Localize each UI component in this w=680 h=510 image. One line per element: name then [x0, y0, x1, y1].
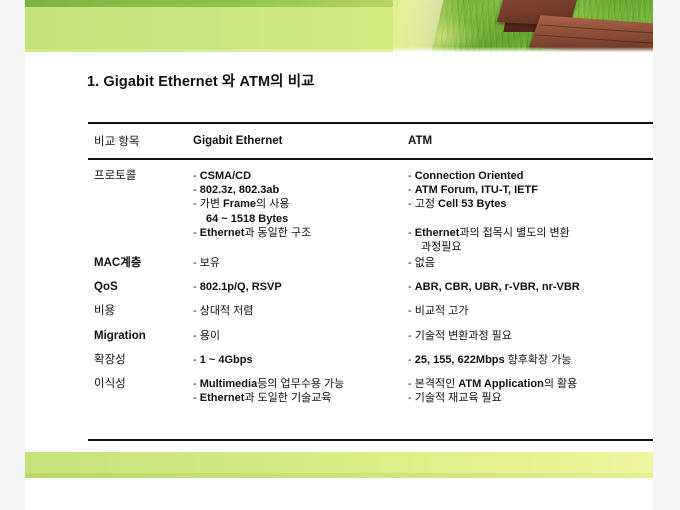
top-decoration-band [25, 0, 653, 52]
table-row: QoS- 802.1p/Q, RSVP- ABR, CBR, UBR, r-VB… [88, 280, 653, 294]
cell-line: 과정필요 [408, 240, 653, 254]
cell-line [408, 212, 653, 226]
cell-atm: - ABR, CBR, UBR, r-VBR, nr-VBR [408, 280, 653, 294]
row-label: 비용 [88, 304, 193, 318]
cell-gigabit-ethernet: - 802.1p/Q, RSVP [193, 280, 408, 294]
table-row: Migration- 용이- 기술적 변환과정 필요 [88, 329, 653, 343]
cell-atm: - 본격적인 ATM Application의 활용- 기술적 재교육 필요 [408, 377, 653, 405]
plank-line [535, 34, 653, 44]
photo-left-fade [393, 0, 463, 52]
cell-gigabit-ethernet: - 1 ~ 4Gbps [193, 353, 408, 367]
row-label: QoS [88, 280, 193, 294]
row-label: 이식성 [88, 377, 193, 391]
cell-line: - 없음 [408, 256, 653, 270]
cell-atm: - 기술적 변환과정 필요 [408, 329, 653, 343]
table-row: 프로토콜- CSMA/CD- 802.3z, 802.3ab- 가변 Frame… [88, 169, 653, 254]
table-header-row: 비교 항목 Gigabit Ethernet ATM [88, 124, 653, 158]
table-row: 비용- 상대적 저렴- 비교적 고가 [88, 304, 653, 318]
photo-bottom-fade [393, 47, 653, 52]
cell-line: - ABR, CBR, UBR, r-VBR, nr-VBR [408, 280, 653, 294]
header-cell-atm: ATM [408, 135, 653, 147]
row-label: Migration [88, 329, 193, 343]
slide-footer-area [25, 478, 653, 510]
table-row: 이식성- Multimedia등의 업무수용 가능- Ethernet과 도일한… [88, 377, 653, 405]
row-label: MAC계층 [88, 256, 193, 270]
cell-line: - 802.3z, 802.3ab [193, 183, 408, 197]
row-label: 프로토콜 [88, 169, 193, 183]
table-row: 확장성- 1 ~ 4Gbps- 25, 155, 622Mbps 향후확장 가능 [88, 353, 653, 367]
plank-line [539, 24, 653, 34]
header-cell-label: 비교 항목 [88, 133, 193, 149]
table-row: MAC계층- 보유- 없음 [88, 256, 653, 270]
header-cell-gigabit: Gigabit Ethernet [193, 135, 408, 147]
cell-line: - ATM Forum, ITU-T, IETF [408, 183, 653, 197]
cell-line: - 기술적 변환과정 필요 [408, 329, 653, 343]
cell-line: - 고정 Cell 53 Bytes [408, 197, 653, 211]
cell-line: - Ethernet과 동일한 구조 [193, 226, 408, 240]
bottom-band-main-stripe [25, 452, 653, 473]
cell-line: - Ethernet과 도일한 기술교육 [193, 391, 408, 405]
cell-line: - Multimedia등의 업무수용 가능 [193, 377, 408, 391]
comparison-table: 비교 항목 Gigabit Ethernet ATM 프로토콜- CSMA/CD… [88, 122, 653, 405]
cell-gigabit-ethernet: - Multimedia등의 업무수용 가능- Ethernet과 도일한 기술… [193, 377, 408, 405]
row-label: 확장성 [88, 353, 193, 367]
cell-atm: - 없음 [408, 256, 653, 270]
cell-line: - 보유 [193, 256, 408, 270]
cell-gigabit-ethernet: - 용이 [193, 329, 408, 343]
cell-line: - Ethernet과의 접목시 별도의 변환 [408, 226, 653, 240]
cell-line: - 본격적인 ATM Application의 활용 [408, 377, 653, 391]
cell-atm: - Connection Oriented- ATM Forum, ITU-T,… [408, 169, 653, 254]
cell-line: - Connection Oriented [408, 169, 653, 183]
cell-line: - 25, 155, 622Mbps 향후확장 가능 [408, 353, 653, 367]
cell-line: - 비교적 고가 [408, 304, 653, 318]
cell-atm: - 25, 155, 622Mbps 향후확장 가능 [408, 353, 653, 367]
table-body: 프로토콜- CSMA/CD- 802.3z, 802.3ab- 가변 Frame… [88, 160, 653, 405]
cell-gigabit-ethernet: - 상대적 저렴 [193, 304, 408, 318]
cell-gigabit-ethernet: - 보유 [193, 256, 408, 270]
bench-grass-photo [393, 0, 653, 52]
table-bottom-rule [88, 439, 653, 441]
cell-line: - 용이 [193, 329, 408, 343]
cell-line: - 기술적 재교육 필요 [408, 391, 653, 405]
cell-line: - 1 ~ 4Gbps [193, 353, 408, 367]
bottom-decoration-band [25, 452, 653, 478]
slide-canvas: 1. Gigabit Ethernet 와 ATM의 비교 비교 항목 Giga… [25, 0, 653, 510]
cell-line: - 상대적 저렴 [193, 304, 408, 318]
cell-line: - CSMA/CD [193, 169, 408, 183]
cell-line: 64 ~ 1518 Bytes [193, 212, 408, 226]
page-title: 1. Gigabit Ethernet 와 ATM의 비교 [87, 70, 315, 91]
cell-atm: - 비교적 고가 [408, 304, 653, 318]
cell-line: - 802.1p/Q, RSVP [193, 280, 408, 294]
cell-line: - 가변 Frame의 사용 [193, 197, 408, 211]
cell-gigabit-ethernet: - CSMA/CD- 802.3z, 802.3ab- 가변 Frame의 사용… [193, 169, 408, 240]
